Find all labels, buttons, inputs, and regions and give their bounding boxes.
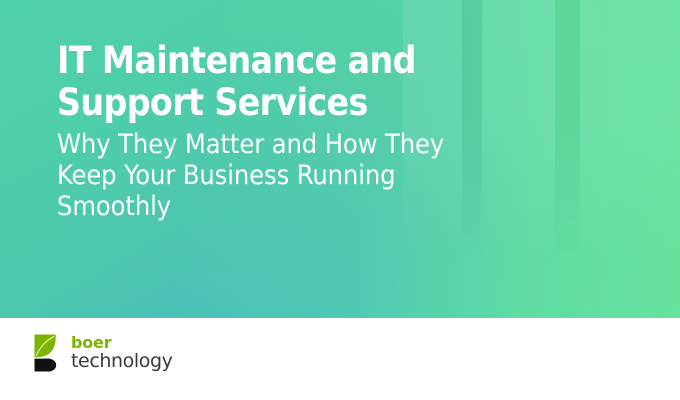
slide-subtitle-line-3: Smoothly (57, 191, 597, 222)
slide-subtitle-line-2: Keep Your Business Running (57, 160, 597, 191)
brand-logo[interactable]: boer technology (33, 333, 173, 373)
slide-title-line-1: IT Maintenance and (57, 40, 597, 82)
slide-title-line-2: Support Services (57, 82, 597, 124)
presentation-slide: IT Maintenance and Support Services Why … (0, 0, 680, 400)
slide-footer: boer technology (0, 318, 680, 400)
brand-name-primary: boer (71, 335, 173, 351)
boer-technology-leaf-b-mark-icon (33, 333, 63, 373)
slide-title: IT Maintenance and Support Services (57, 40, 597, 124)
brand-name-secondary: technology (71, 352, 173, 371)
slide-subtitle-line-1: Why They Matter and How They (57, 129, 597, 160)
brand-wordmark: boer technology (71, 335, 173, 371)
hero-banner: IT Maintenance and Support Services Why … (0, 0, 680, 318)
slide-subtitle: Why They Matter and How They Keep Your B… (57, 129, 597, 223)
hero-text-block: IT Maintenance and Support Services Why … (57, 40, 597, 223)
